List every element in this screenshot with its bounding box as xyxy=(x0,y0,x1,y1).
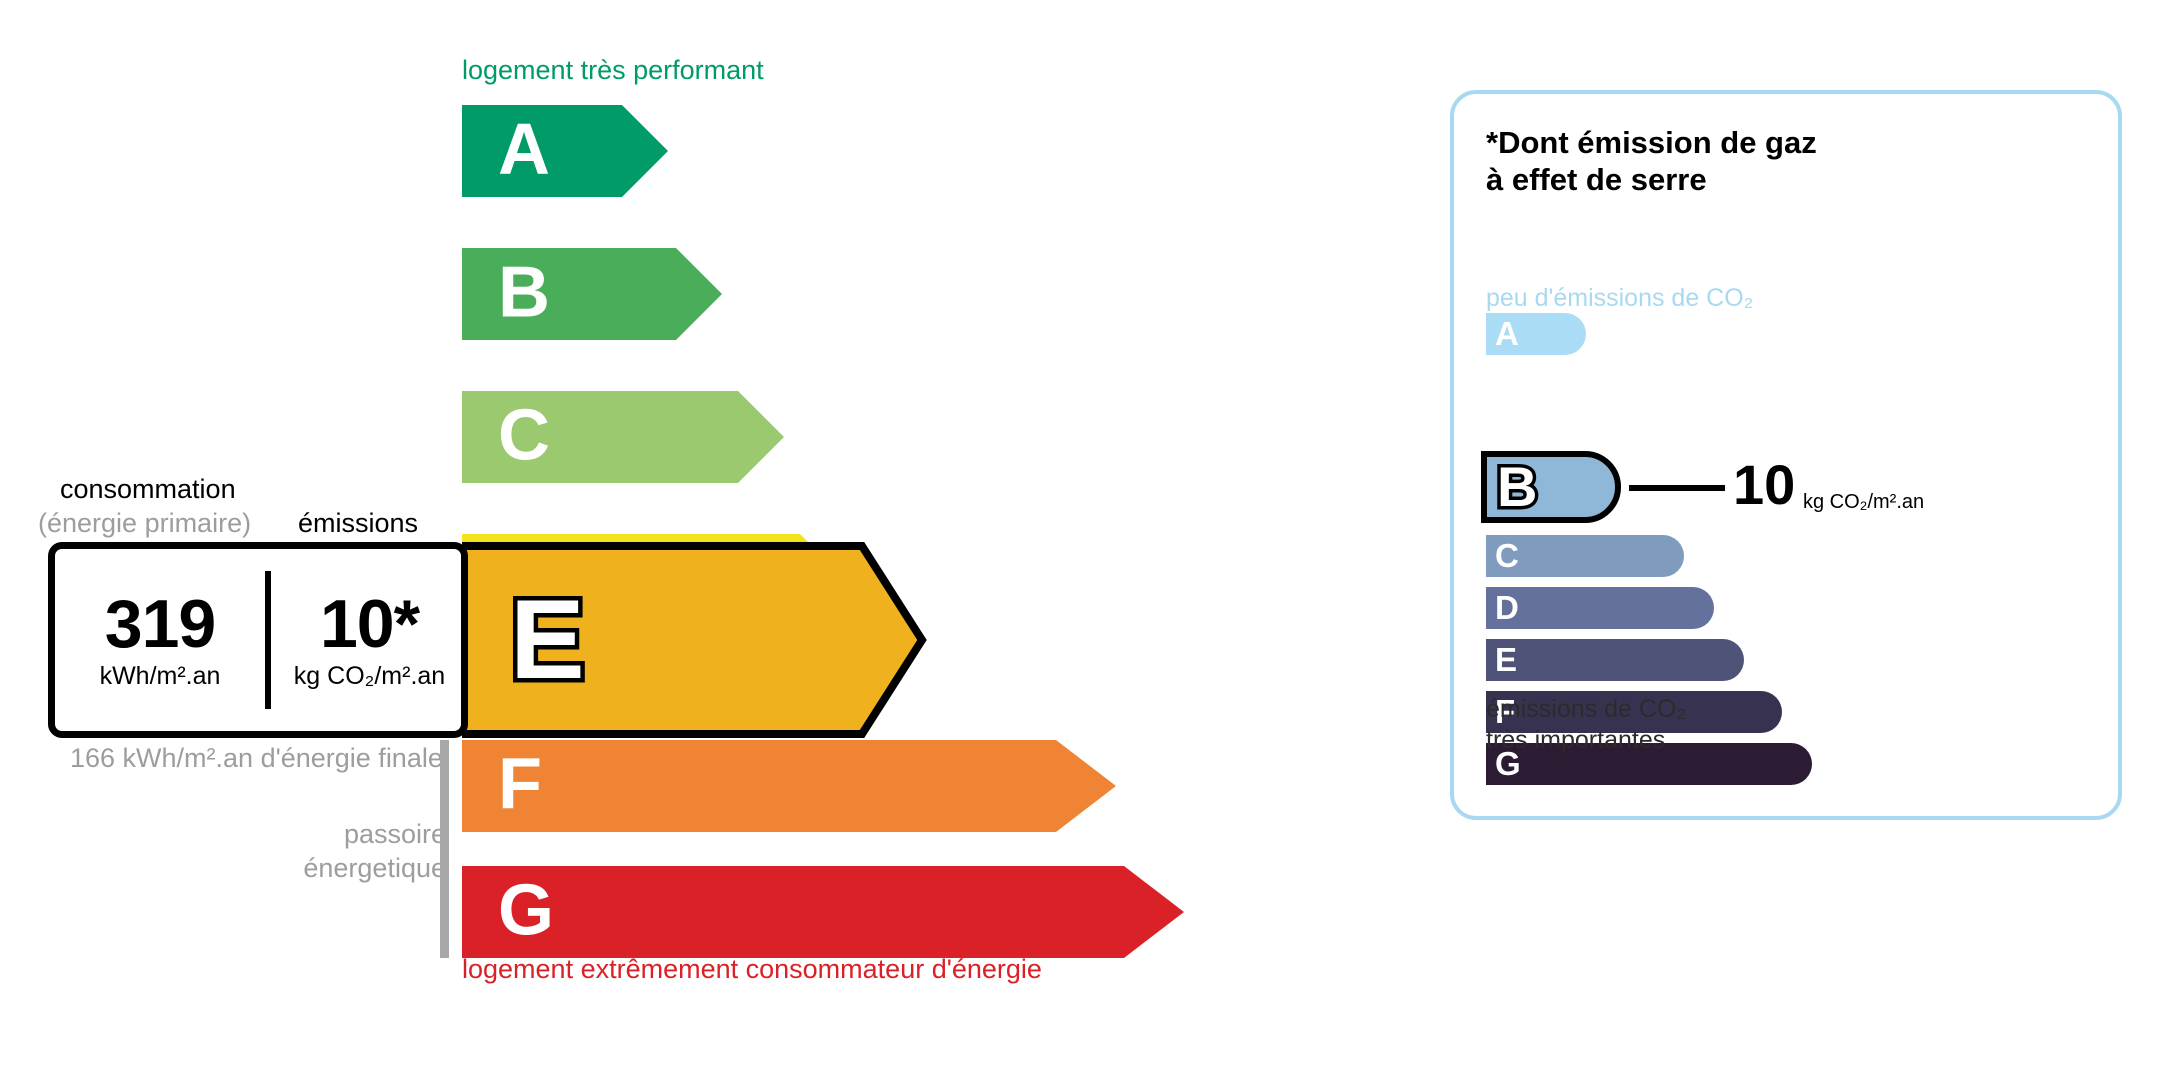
co2-bar-shape-d xyxy=(1486,587,1714,629)
energy-band-shape-a xyxy=(462,105,668,197)
energy-band-shape-f xyxy=(462,740,1116,832)
co2-caption-top: peu d'émissions de CO₂ xyxy=(1486,284,1753,313)
energy-band-g[interactable]: G xyxy=(462,866,1184,958)
co2-emission-unit: kg CO₂/m².an xyxy=(294,662,445,691)
co2-bar-letter-c: C xyxy=(1495,539,1519,572)
label-consommation: consommation xyxy=(60,474,236,505)
energy-band-letter-b: B xyxy=(498,257,550,329)
label-energie-finale: 166 kWh/m².an d'énergie finale xyxy=(70,742,443,776)
energy-caption-top: logement très performant xyxy=(462,55,764,86)
label-passoire-energetique: passoire énergetique xyxy=(286,818,446,886)
energy-band-letter-a: A xyxy=(498,114,550,186)
label-emissions: émissions xyxy=(298,508,418,539)
primary-energy-cell: 319 kWh/m².an xyxy=(55,549,265,731)
energy-band-b[interactable]: B xyxy=(462,248,722,340)
co2-bar-letter-e: E xyxy=(1495,643,1517,676)
energy-band-letter-c: C xyxy=(498,400,550,472)
co2-callout-value: 10 xyxy=(1733,457,1795,513)
co2-bar-c[interactable]: C xyxy=(1486,535,1684,577)
energy-caption-bottom: logement extrêmement consommateur d'éner… xyxy=(462,954,1042,985)
energy-band-selected-letter: E xyxy=(510,584,585,696)
co2-leader-line xyxy=(1629,485,1725,491)
label-energie-primaire: (énergie primaire) xyxy=(38,508,251,539)
co2-bar-shape-e xyxy=(1486,639,1744,681)
co2-bar-d[interactable]: D xyxy=(1486,587,1714,629)
energy-band-letter-f: F xyxy=(498,749,542,821)
co2-callout-unit: kg CO₂/m².an xyxy=(1803,491,1924,514)
co2-caption-bottom: émissions de CO₂ très importantes xyxy=(1486,694,1686,757)
primary-energy-unit: kWh/m².an xyxy=(100,662,221,691)
co2-bar-letter-a: A xyxy=(1495,317,1519,350)
co2-emission-value: 10* xyxy=(320,590,419,658)
co2-panel-title: *Dont émission de gaz à effet de serre xyxy=(1486,124,1817,198)
co2-bar-a[interactable]: A xyxy=(1486,313,1586,355)
co2-emission-cell: 10* kg CO₂/m².an xyxy=(271,549,468,731)
energy-band-shape-g xyxy=(462,866,1184,958)
co2-panel: *Dont émission de gaz à effet de serre p… xyxy=(1450,90,2122,820)
energy-performance-diagram: logement très performant ABCDFG E 319 kW… xyxy=(0,0,1400,1079)
energy-band-selected[interactable]: E xyxy=(462,542,930,738)
passoire-indicator-bar xyxy=(440,740,449,958)
primary-energy-value: 319 xyxy=(105,590,215,658)
energy-value-box: 319 kWh/m².an 10* kg CO₂/m².an xyxy=(48,542,468,738)
co2-bar-letter-d: D xyxy=(1495,591,1519,624)
energy-band-letter-g: G xyxy=(498,875,554,947)
energy-band-f[interactable]: F xyxy=(462,740,1116,832)
co2-bar-selected-letter: B xyxy=(1497,459,1537,515)
energy-band-a[interactable]: A xyxy=(462,105,668,197)
co2-bar-e[interactable]: E xyxy=(1486,639,1744,681)
energy-band-c[interactable]: C xyxy=(462,391,784,483)
